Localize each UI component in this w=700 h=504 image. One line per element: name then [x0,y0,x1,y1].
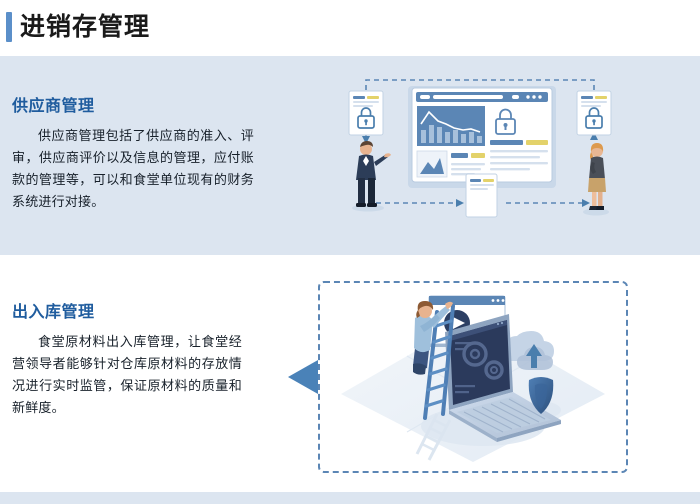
page-header: 进销存管理 [0,0,700,56]
footer-band [0,492,700,504]
title-accent-bar [6,12,12,42]
section-body-inventory: 食堂原材料出入库管理，让食堂经营领导者能够针对仓库原材料的存放情况进行实时监管，… [12,332,242,420]
businesswoman-figure [583,143,609,216]
section-body-supplier: 供应商管理包括了供应商的准入、评审，供应商评价以及信息的管理，应付账款的管理等，… [12,126,254,214]
section-heading-supplier: 供应商管理 [12,92,95,116]
page-title: 进销存管理 [20,11,150,43]
page-root: 进销存管理 供应商管理 供应商管理包括了供应商的准入、评审，供应商评价以及信息的… [0,0,700,504]
supplier-network-illustration [330,72,630,247]
bar-chart-panel [417,106,485,146]
inventory-illustration-wrap [288,278,648,486]
section-heading-inventory: 出入库管理 [12,298,95,322]
document-card-right [577,91,611,135]
document-card-left [349,91,383,135]
document-card-center [466,174,497,217]
browser-dashboard-window [408,86,556,188]
warehouse-laptop-illustration [333,286,613,466]
pointer-triangle-icon [288,360,318,394]
businessman-figure [352,141,391,212]
